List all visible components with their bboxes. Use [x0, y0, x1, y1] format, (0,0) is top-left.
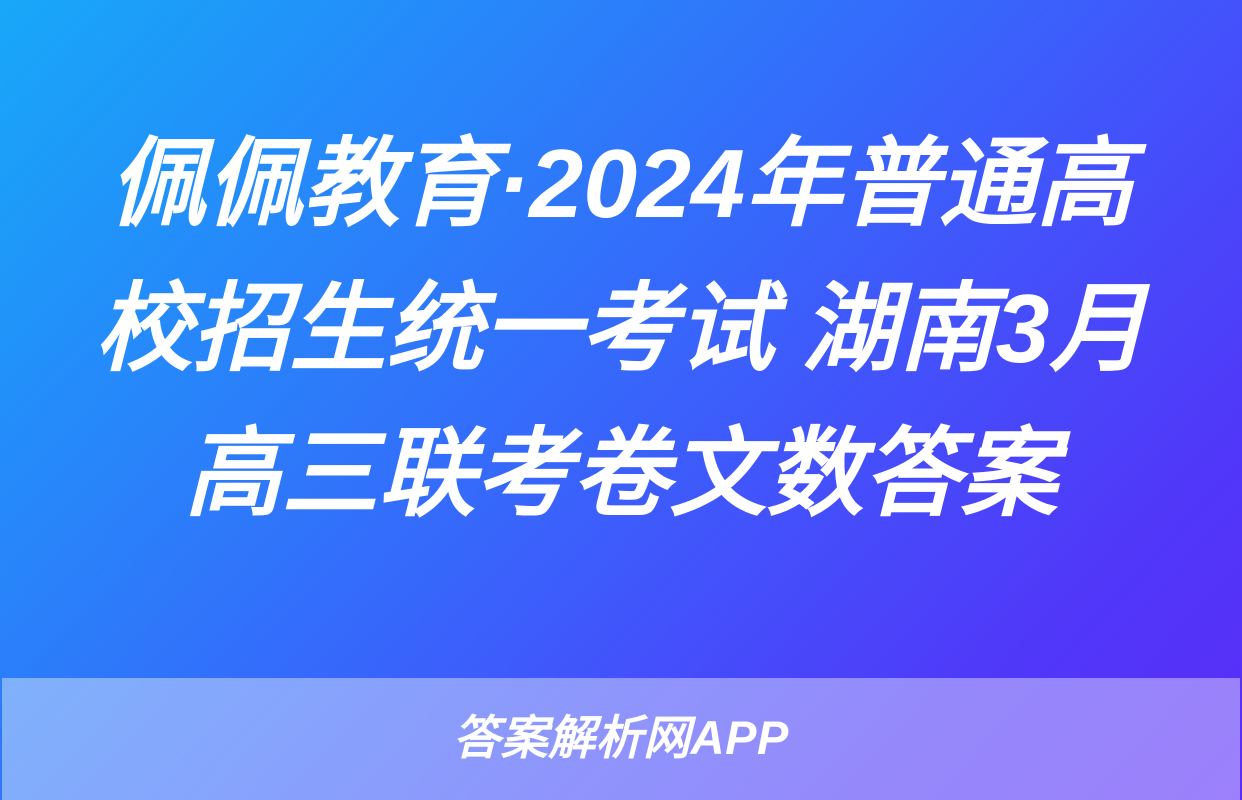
- title-line-2: 校招生统一考试 湖南3月: [96, 256, 1147, 401]
- watermark-app-label: 答案解析网APP: [453, 714, 789, 761]
- title-line-3: 高三联考卷文数答案: [185, 401, 1058, 546]
- watermark-band: 答案解析网APP: [2, 678, 1240, 800]
- poster-canvas: 佩佩教育·2024年普通高 校招生统一考试 湖南3月 高三联考卷文数答案 答案解…: [0, 0, 1242, 800]
- title-block: 佩佩教育·2024年普通高 校招生统一考试 湖南3月 高三联考卷文数答案: [0, 0, 1242, 678]
- title-line-1: 佩佩教育·2024年普通高: [109, 111, 1133, 256]
